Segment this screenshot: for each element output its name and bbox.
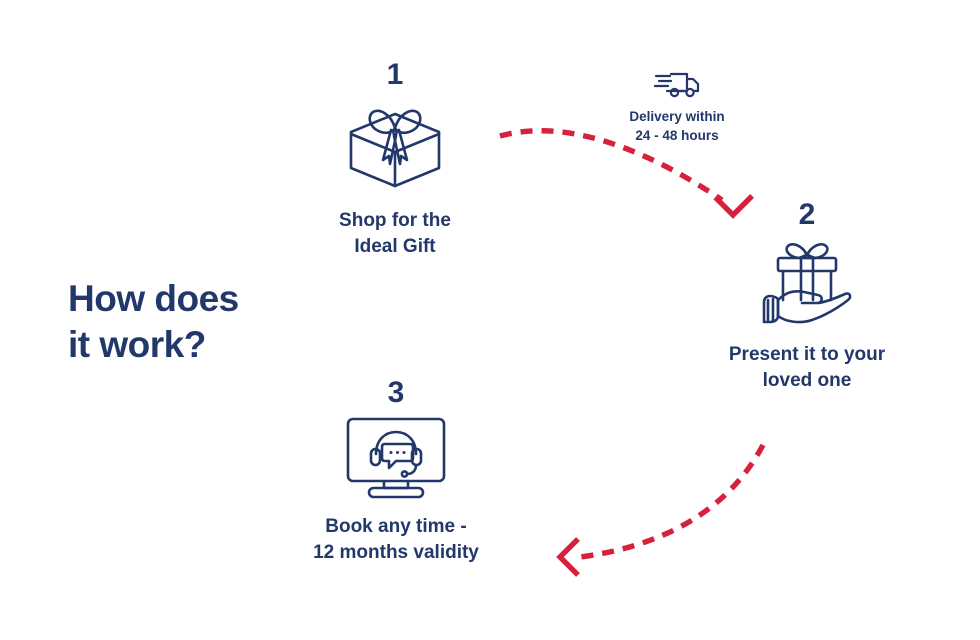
delivery-truck-icon [654,70,700,100]
step-1-label-line-1: Shop for the [295,208,495,234]
page-title: How does it work? [68,276,348,369]
step-3-number: 3 [296,378,496,408]
delivery-note-text: Delivery within 24 - 48 hours [597,108,757,145]
step-1: 1 Shop for the Ideal Gift [295,60,495,259]
step-3-label-line-2: 12 months validity [296,540,496,566]
step-1-number: 1 [295,60,495,90]
monitor-support-headset-icon [344,416,448,500]
step-3-label: Book any time - 12 months validity [296,514,496,565]
step-2-label-line-2: loved one [707,368,907,394]
hand-holding-gift-icon [756,238,858,328]
delivery-note: Delivery within 24 - 48 hours [597,70,757,145]
step-3: 3 Book any time - 12 months validity [296,378,496,565]
infographic-canvas: How does it work? 1 Shop for the Ideal G… [0,0,980,640]
arrow-step2-to-step3 [520,420,820,600]
gift-box-icon [343,98,447,194]
delivery-note-line-2: 24 - 48 hours [597,127,757,146]
step-2: 2 Present it to your loved one [707,200,907,393]
step-2-label-line-1: Present it to your [707,342,907,368]
step-1-label-line-2: Ideal Gift [295,234,495,260]
step-2-number: 2 [707,200,907,230]
step-2-label: Present it to your loved one [707,342,907,393]
step-1-label: Shop for the Ideal Gift [295,208,495,259]
page-title-line-2: it work? [68,322,348,368]
step-3-label-line-1: Book any time - [296,514,496,540]
page-title-line-1: How does [68,276,348,322]
delivery-note-line-1: Delivery within [597,108,757,127]
